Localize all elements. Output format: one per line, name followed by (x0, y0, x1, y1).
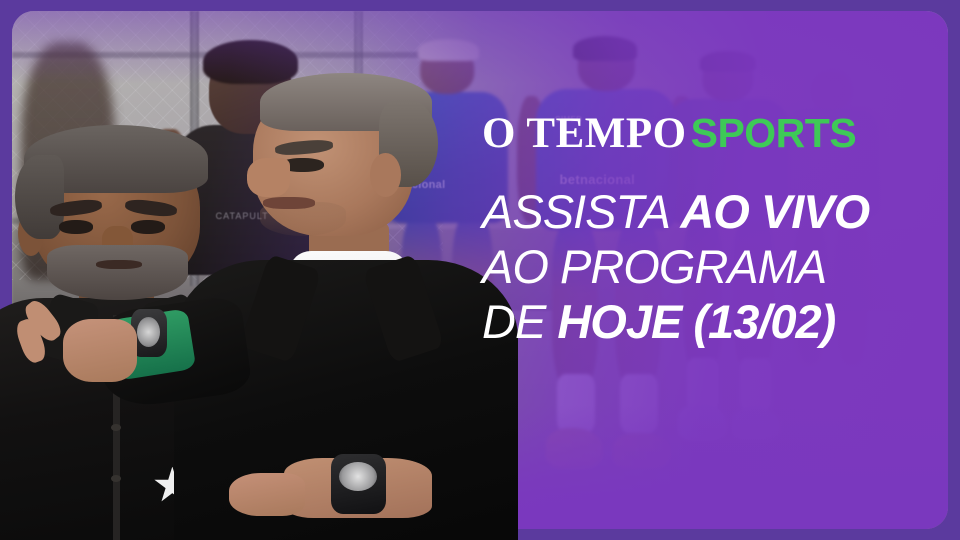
headline-line3-bold: HOJE (13/02) (557, 295, 835, 348)
headline-line-3: DE HOJE (13/02) (482, 298, 869, 345)
logo-sports: SPORTS (691, 110, 857, 156)
headline-line2-regular: AO PROGRAMA (482, 240, 826, 293)
headline-block: ASSISTA AO VIVO AO PROGRAMA DE HOJE (13/… (482, 188, 869, 353)
text-overlay: O TEMPOSPORTS ASSISTA AO VIVO AO PROGRAM… (0, 0, 960, 540)
headline-line1-regular: ASSISTA (482, 185, 680, 238)
thumbnail-canvas: CATAPULT CIMED t nacional (0, 0, 960, 540)
logo-otempo: O TEMPO (482, 110, 687, 157)
headline-line1-bold: AO VIVO (680, 185, 869, 238)
headline-line-1: ASSISTA AO VIVO (482, 188, 869, 235)
brand-logo: O TEMPOSPORTS (482, 112, 856, 155)
headline-line-2: AO PROGRAMA (482, 243, 869, 290)
headline-line3-regular: DE (482, 295, 557, 348)
